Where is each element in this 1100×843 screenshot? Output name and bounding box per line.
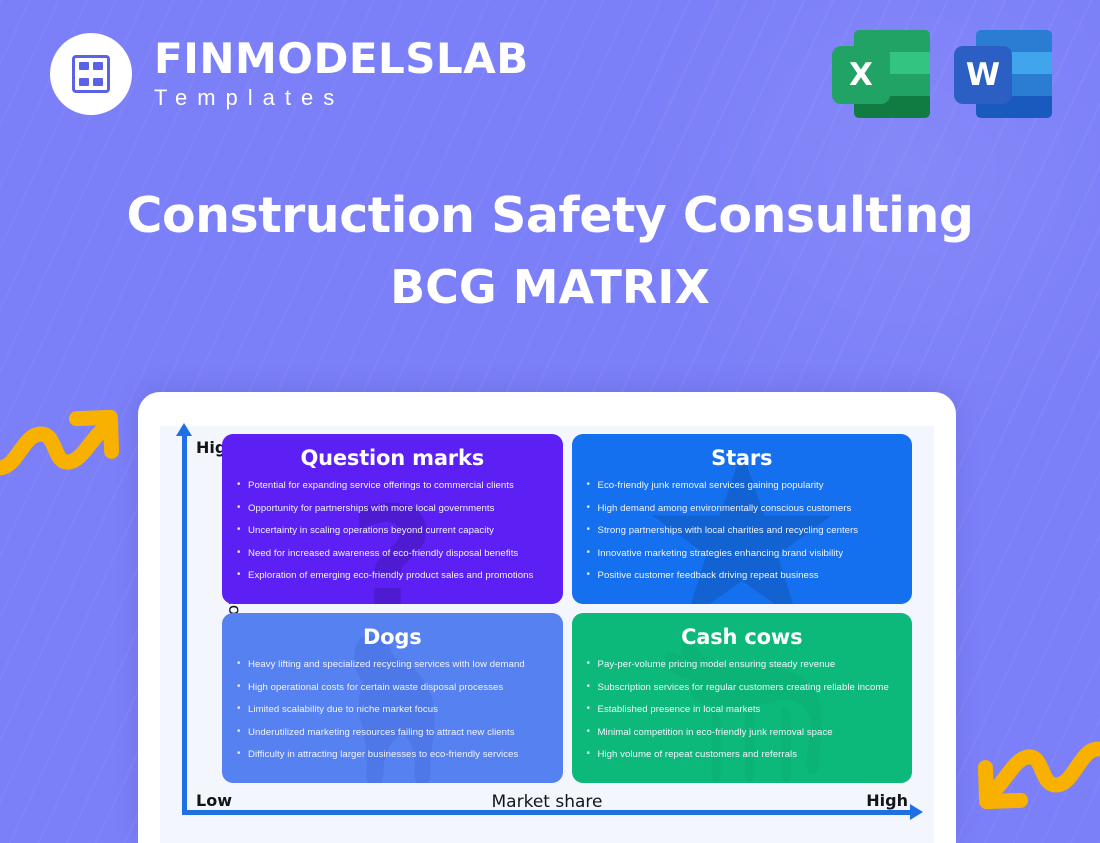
office-icons: X W bbox=[832, 26, 1052, 122]
quadrant-title: Cash cows bbox=[586, 625, 899, 649]
list-item: Potential for expanding service offering… bbox=[236, 480, 549, 492]
bcg-matrix-chart: High Market growth Low Market share High… bbox=[160, 426, 934, 843]
quadrant-question-marks[interactable]: ? Question marks Potential for expanding… bbox=[222, 434, 563, 604]
excel-icon-letter: X bbox=[832, 46, 890, 104]
word-icon: W bbox=[954, 26, 1052, 122]
header: FINMODELSLAB Templates X W bbox=[0, 0, 1100, 160]
excel-icon: X bbox=[832, 26, 930, 122]
yellow-arrow-up-right-icon bbox=[0, 400, 123, 487]
quadrant-cash-cows[interactable]: Cash cows Pay-per-volume pricing model e… bbox=[572, 613, 913, 783]
brand-logo: FINMODELSLAB Templates bbox=[50, 33, 529, 115]
list-item: Opportunity for partnerships with more l… bbox=[236, 503, 549, 515]
list-item: Subscription services for regular custom… bbox=[586, 682, 899, 694]
brand-name: FINMODELSLAB bbox=[154, 38, 529, 80]
quadrant-title: Dogs bbox=[236, 625, 549, 649]
page-title-block: Construction Safety Consulting BCG MATRI… bbox=[0, 188, 1100, 314]
list-item: Heavy lifting and specialized recycling … bbox=[236, 659, 549, 671]
matrix-card: High Market growth Low Market share High… bbox=[138, 392, 956, 843]
page-title: Construction Safety Consulting bbox=[0, 188, 1100, 244]
list-item: Eco-friendly junk removal services gaini… bbox=[586, 480, 899, 492]
page-subtitle: BCG MATRIX bbox=[0, 260, 1100, 314]
quadrant-bullet-list: Potential for expanding service offering… bbox=[236, 480, 549, 582]
list-item: Difficulty in attracting larger business… bbox=[236, 749, 549, 761]
list-item: High volume of repeat customers and refe… bbox=[586, 749, 899, 761]
brand-subtitle: Templates bbox=[154, 85, 529, 111]
list-item: Minimal competition in eco-friendly junk… bbox=[586, 727, 899, 739]
quadrant-bullet-list: Eco-friendly junk removal services gaini… bbox=[586, 480, 899, 582]
quadrant-title: Stars bbox=[586, 446, 899, 470]
quadrant-dogs[interactable]: Dogs Heavy lifting and specialized recyc… bbox=[222, 613, 563, 783]
grid-square-icon bbox=[72, 55, 110, 93]
logo-badge bbox=[50, 33, 132, 115]
list-item: Strong partnerships with local charities… bbox=[586, 525, 899, 537]
y-axis bbox=[182, 434, 187, 815]
x-axis-label: Market share bbox=[492, 792, 603, 812]
word-icon-letter: W bbox=[954, 46, 1012, 104]
list-item: High operational costs for certain waste… bbox=[236, 682, 549, 694]
list-item: High demand among environmentally consci… bbox=[586, 503, 899, 515]
list-item: Established presence in local markets bbox=[586, 704, 899, 716]
x-axis-high-label: High bbox=[866, 791, 908, 810]
list-item: Limited scalability due to niche market … bbox=[236, 704, 549, 716]
yellow-arrow-down-left-icon bbox=[972, 735, 1100, 826]
quadrant-title: Question marks bbox=[236, 446, 549, 470]
quadrant-grid: ? Question marks Potential for expanding… bbox=[222, 434, 912, 783]
list-item: Uncertainty in scaling operations beyond… bbox=[236, 525, 549, 537]
quadrant-stars[interactable]: Stars Eco-friendly junk removal services… bbox=[572, 434, 913, 604]
list-item: Underutilized marketing resources failin… bbox=[236, 727, 549, 739]
quadrant-bullet-list: Heavy lifting and specialized recycling … bbox=[236, 659, 549, 761]
list-item: Need for increased awareness of eco-frie… bbox=[236, 548, 549, 560]
list-item: Positive customer feedback driving repea… bbox=[586, 570, 899, 582]
quadrant-bullet-list: Pay-per-volume pricing model ensuring st… bbox=[586, 659, 899, 761]
list-item: Exploration of emerging eco-friendly pro… bbox=[236, 570, 549, 582]
list-item: Innovative marketing strategies enhancin… bbox=[586, 548, 899, 560]
list-item: Pay-per-volume pricing model ensuring st… bbox=[586, 659, 899, 671]
x-axis-low-label: Low bbox=[196, 791, 232, 810]
